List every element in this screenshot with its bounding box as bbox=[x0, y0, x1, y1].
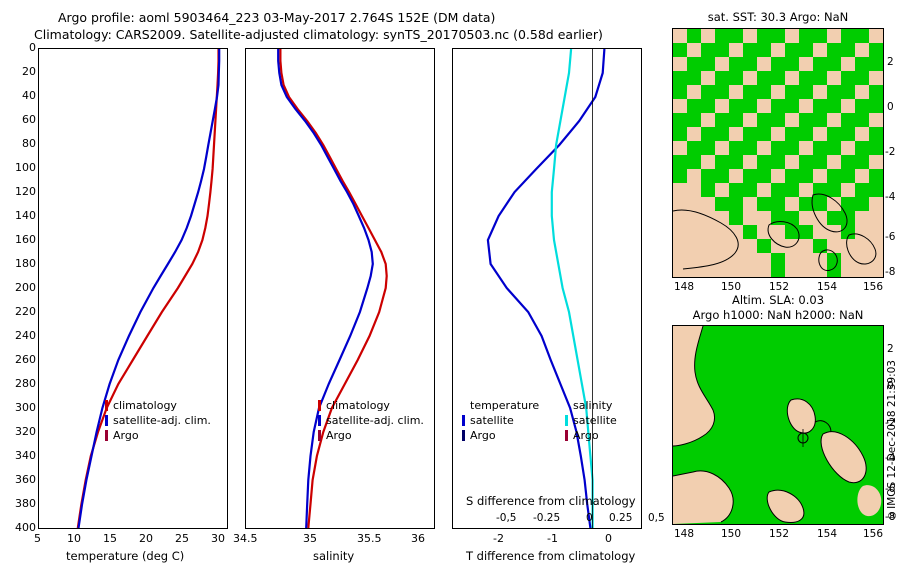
temperature-plot-svg bbox=[39, 49, 227, 528]
legend-label-t-argo: Argo bbox=[470, 429, 496, 442]
temperature-legend: climatology satellite-adj. clim. Argo bbox=[105, 398, 211, 443]
legend-item-satellite-adj-salinity: satellite-adj. clim. bbox=[318, 413, 424, 428]
sla-map bbox=[672, 325, 884, 525]
difference-t-axis-label: T difference from climatology bbox=[466, 549, 635, 563]
difference-legend-salinity: salinity satellite Argo bbox=[565, 398, 617, 443]
legend-item-s-satellite: satellite bbox=[565, 413, 617, 428]
legend-label-s-argo: Argo bbox=[573, 429, 599, 442]
legend-item-argo-salinity: Argo bbox=[318, 428, 424, 443]
sla-map-y-ticklabels: 2 0 -2 -4 -6 -8 bbox=[884, 325, 900, 525]
sst-map-y-ticklabels: 2 0 -2 -4 -6 -8 bbox=[884, 28, 900, 278]
legend-label-satellite-adj-salinity: satellite-adj. clim. bbox=[326, 414, 424, 427]
sst-map bbox=[672, 28, 884, 278]
legend-item-argo: Argo bbox=[105, 428, 211, 443]
figure-root: Argo profile: aoml 5903464_223 03-May-20… bbox=[0, 0, 900, 580]
sst-map-title: sat. SST: 30.3 Argo: NaN bbox=[672, 10, 884, 24]
legend-header-temperature: temperature bbox=[462, 398, 539, 413]
sla-map-svg bbox=[673, 326, 883, 524]
legend-label-climatology-salinity: climatology bbox=[326, 399, 390, 412]
legend-swatch-argo bbox=[105, 430, 108, 441]
salinity-x-axis-label: salinity bbox=[313, 549, 354, 563]
legend-label-argo: Argo bbox=[113, 429, 139, 442]
legend-item-t-satellite: satellite bbox=[462, 413, 539, 428]
legend-item-climatology: climatology bbox=[105, 398, 211, 413]
sla-map-title-line-2: Argo h1000: NaN h2000: NaN bbox=[660, 308, 896, 322]
legend-swatch-satellite-adj bbox=[105, 415, 108, 426]
legend-header-salinity: salinity bbox=[565, 398, 617, 413]
legend-label-salinity: salinity bbox=[573, 399, 612, 412]
legend-swatch-s-argo bbox=[565, 430, 568, 441]
legend-label-s-satellite: satellite bbox=[573, 414, 617, 427]
legend-swatch-t-argo bbox=[462, 430, 465, 441]
legend-swatch-t-satellite bbox=[462, 415, 465, 426]
sla-map-title-line-1: Altim. SLA: 0.03 bbox=[672, 293, 884, 307]
legend-item-t-argo: Argo bbox=[462, 428, 539, 443]
legend-item-s-argo: Argo bbox=[565, 428, 617, 443]
difference-plot-svg bbox=[453, 49, 641, 528]
figure-title-line-1: Argo profile: aoml 5903464_223 03-May-20… bbox=[58, 10, 495, 25]
legend-swatch-climatology bbox=[105, 400, 108, 411]
temperature-x-axis-label: temperature (deg C) bbox=[66, 549, 184, 563]
difference-s-axis-label: S difference from climatology bbox=[466, 494, 636, 508]
legend-item-climatology-salinity: climatology bbox=[318, 398, 424, 413]
legend-label-temperature: temperature bbox=[470, 399, 539, 412]
sst-map-svg bbox=[673, 29, 883, 277]
temperature-y-ticklabels: 0 20 40 60 80 100 120 140 160 180 200 22… bbox=[8, 48, 36, 529]
difference-panel bbox=[452, 48, 642, 529]
temperature-panel bbox=[38, 48, 228, 529]
legend-label-argo-salinity: Argo bbox=[326, 429, 352, 442]
figure-title-line-2: Climatology: CARS2009. Satellite-adjuste… bbox=[34, 27, 603, 42]
difference-legend-temperature: temperature satellite Argo bbox=[462, 398, 539, 443]
salinity-legend: climatology satellite-adj. clim. Argo bbox=[318, 398, 424, 443]
legend-label-climatology: climatology bbox=[113, 399, 177, 412]
legend-swatch-s-satellite bbox=[565, 415, 568, 426]
legend-swatch-satellite-adj-salinity bbox=[318, 415, 321, 426]
legend-swatch-argo-salinity bbox=[318, 430, 321, 441]
salinity-panel bbox=[245, 48, 435, 529]
salinity-plot-svg bbox=[246, 49, 434, 528]
legend-label-satellite-adj: satellite-adj. clim. bbox=[113, 414, 211, 427]
legend-swatch-climatology-salinity bbox=[318, 400, 321, 411]
legend-item-satellite-adj: satellite-adj. clim. bbox=[105, 413, 211, 428]
legend-label-t-satellite: satellite bbox=[470, 414, 514, 427]
